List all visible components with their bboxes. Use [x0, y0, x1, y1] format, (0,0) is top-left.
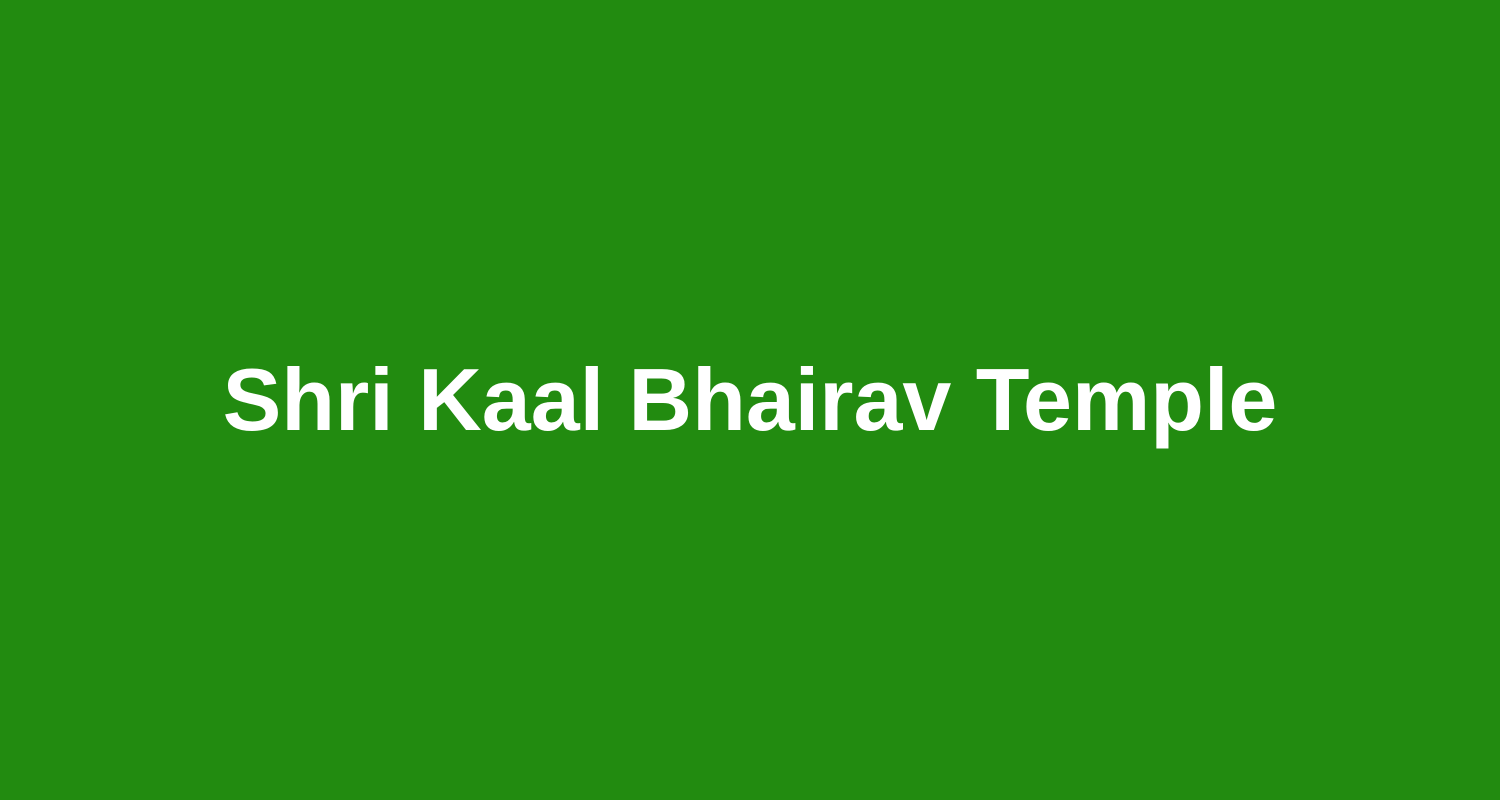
banner-title: Shri Kaal Bhairav Temple	[223, 352, 1278, 449]
placeholder-banner: Shri Kaal Bhairav Temple	[0, 0, 1500, 800]
